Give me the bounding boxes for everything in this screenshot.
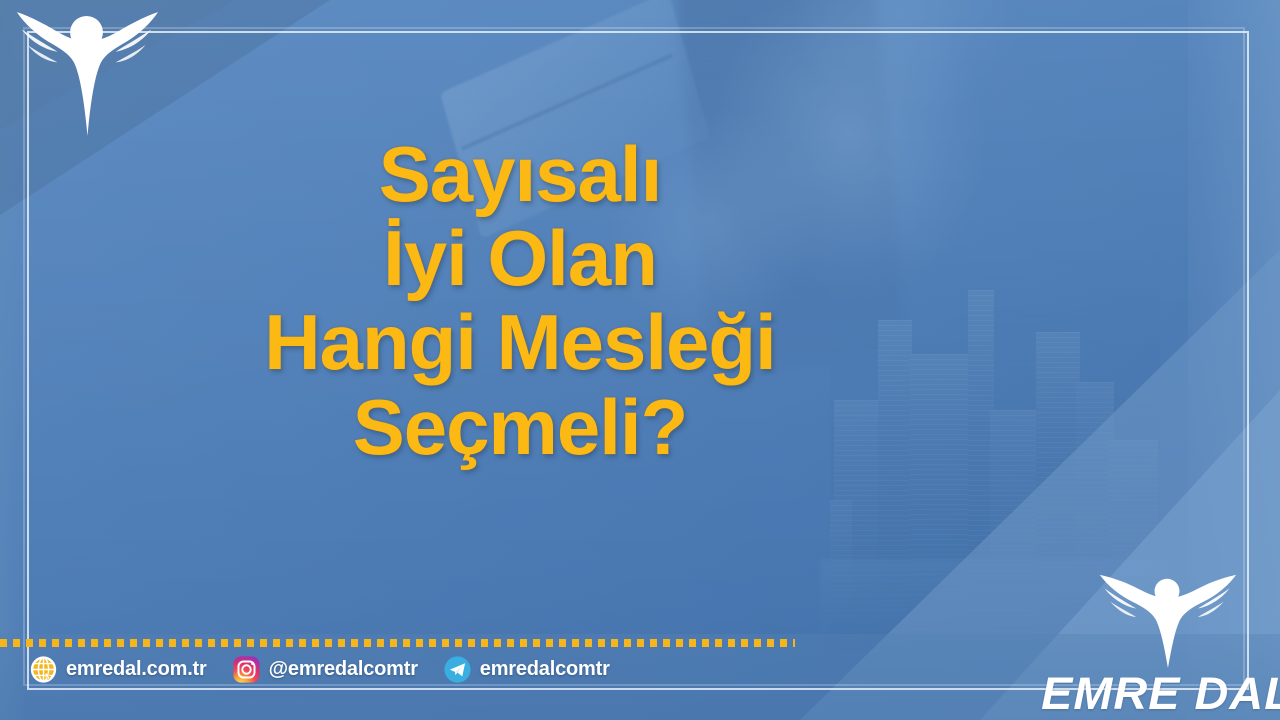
winged-figure-logo-icon [1091,573,1243,669]
social-label-telegram: emredalcomtr [480,658,610,681]
headline-line-4: Seçmeli? [0,385,1040,469]
winged-figure-logo-icon [14,8,159,138]
logo-bottom-right: EMRE DAL [1062,556,1272,716]
headline-line-2: İyi Olan [0,216,1040,300]
social-label-website: emredal.com.tr [66,658,207,681]
telegram-icon [444,656,471,683]
brand-wordmark: EMRE DAL [1041,671,1280,716]
social-link-instagram[interactable]: @emredalcomtr [233,656,418,683]
social-link-website[interactable]: emredal.com.tr [30,656,207,683]
logo-top-left [14,8,159,138]
social-links-bar: emredal.com.tr [30,652,636,686]
headline-line-1: Sayısalı [0,132,1040,216]
social-link-telegram[interactable]: emredalcomtr [444,656,610,683]
instagram-icon [233,656,260,683]
social-label-instagram: @emredalcomtr [269,658,418,681]
headline: Sayısalı İyi Olan Hangi Mesleği Seçmeli? [0,132,1040,469]
dotted-divider [0,639,795,647]
poster-canvas: Sayısalı İyi Olan Hangi Mesleği Seçmeli?… [0,0,1280,720]
headline-line-3: Hangi Mesleği [0,300,1040,384]
globe-icon [30,656,57,683]
